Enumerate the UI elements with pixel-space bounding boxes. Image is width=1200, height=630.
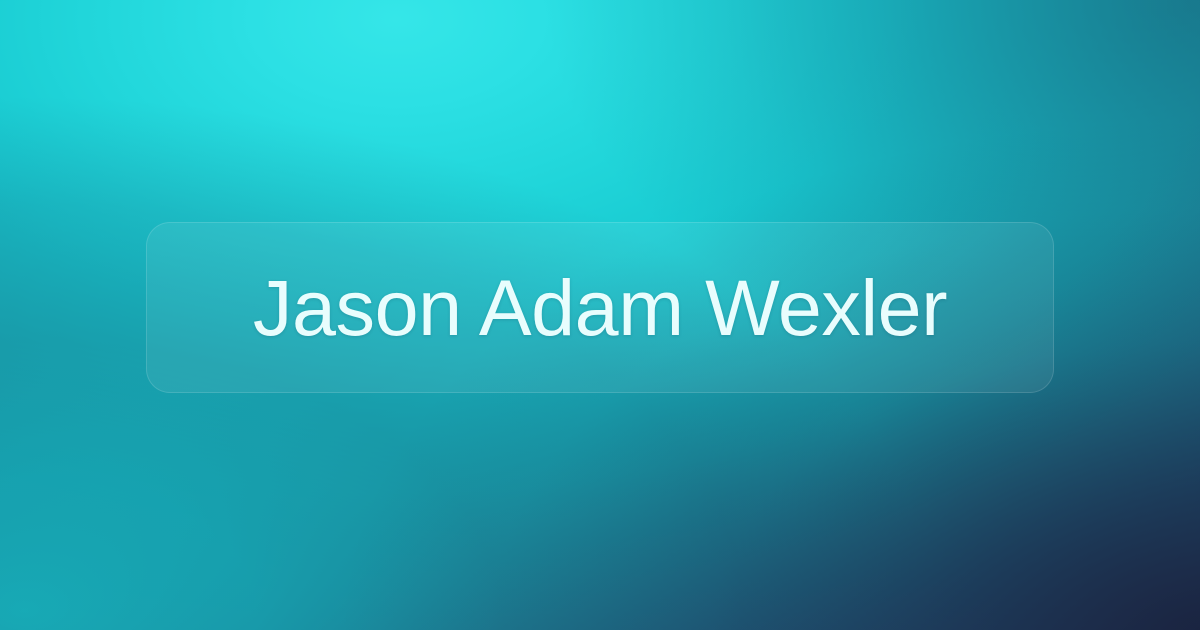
name-plate-card: Jason Adam Wexler	[146, 222, 1054, 393]
social-preview-canvas: Jason Adam Wexler	[0, 0, 1200, 630]
page-title: Jason Adam Wexler	[253, 265, 947, 350]
